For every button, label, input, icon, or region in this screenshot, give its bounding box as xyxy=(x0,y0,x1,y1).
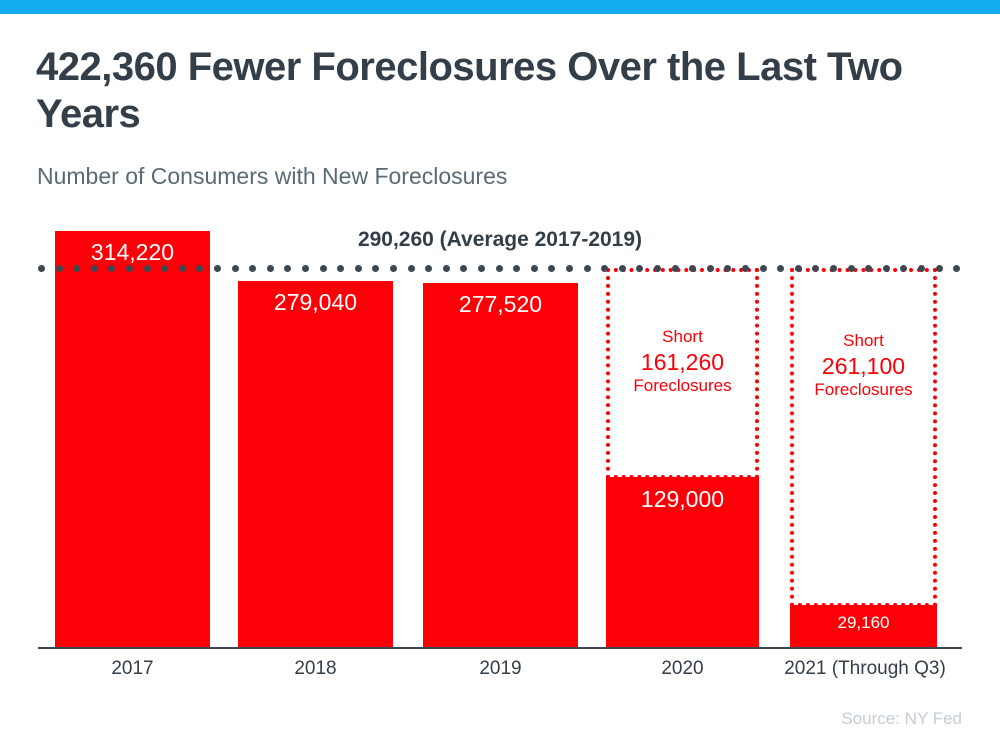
average-line-dot xyxy=(126,265,133,272)
average-line-dot xyxy=(918,265,925,272)
average-line-dot xyxy=(777,265,784,272)
average-line-dot xyxy=(496,265,503,272)
x-axis-line xyxy=(38,647,962,649)
average-line-dot xyxy=(425,265,432,272)
shortfall-box-2021 xyxy=(790,268,937,607)
x-tick-2017: 2017 xyxy=(55,658,210,680)
average-line-dot xyxy=(161,265,168,272)
average-line-dot xyxy=(654,265,661,272)
bar-value-2020: 129,000 xyxy=(606,486,759,513)
average-line-dot xyxy=(478,265,485,272)
average-line-dot xyxy=(144,265,151,272)
average-line-dot xyxy=(619,265,626,272)
average-line-dot xyxy=(372,265,379,272)
average-line-dot xyxy=(760,265,767,272)
bar-2017 xyxy=(55,231,210,647)
bar-value-2021: 29,160 xyxy=(790,613,937,633)
average-line-dot xyxy=(830,265,837,272)
average-line-dot xyxy=(513,265,520,272)
average-reference-line xyxy=(38,265,962,272)
average-line-dot xyxy=(883,265,890,272)
x-tick-2019: 2019 xyxy=(423,658,578,680)
average-line-dot xyxy=(636,265,643,272)
average-line-dot xyxy=(408,265,415,272)
average-line-dot xyxy=(689,265,696,272)
average-line-dot xyxy=(742,265,749,272)
average-line-dot xyxy=(953,265,960,272)
average-line-dot xyxy=(724,265,731,272)
source-note: Source: NY Fed xyxy=(841,709,962,729)
average-line-dot xyxy=(812,265,819,272)
average-line-dot xyxy=(566,265,573,272)
average-line-dot xyxy=(936,265,943,272)
average-line-dot xyxy=(548,265,555,272)
shortfall-line3-2020: Foreclosures xyxy=(606,376,759,397)
average-reference-label: 290,260 (Average 2017-2019) xyxy=(320,228,680,252)
average-line-dot xyxy=(390,265,397,272)
average-line-dot xyxy=(795,265,802,272)
average-line-dot xyxy=(56,265,63,272)
average-line-dot xyxy=(601,265,608,272)
average-line-dot xyxy=(337,265,344,272)
shortfall-line3-2021: Foreclosures xyxy=(787,380,940,401)
average-line-dot xyxy=(320,265,327,272)
average-line-dot xyxy=(848,265,855,272)
x-tick-2018: 2018 xyxy=(238,658,393,680)
shortfall-label-2021: Short 261,100 Foreclosures xyxy=(787,331,940,401)
average-line-dot xyxy=(443,265,450,272)
x-tick-2020: 2020 xyxy=(606,658,759,680)
average-line-dot xyxy=(584,265,591,272)
average-line-dot xyxy=(108,265,115,272)
average-line-dot xyxy=(232,265,239,272)
average-line-dot xyxy=(38,265,45,272)
shortfall-line1-2021: Short xyxy=(787,331,940,352)
average-line-dot xyxy=(91,265,98,272)
average-line-dot xyxy=(531,265,538,272)
average-line-dot xyxy=(267,265,274,272)
shortfall-value-2020: 161,260 xyxy=(606,348,759,376)
average-line-dot xyxy=(707,265,714,272)
bar-2019 xyxy=(423,283,578,647)
bar-2018 xyxy=(238,281,393,647)
bar-value-2019: 277,520 xyxy=(423,291,578,318)
average-line-dot xyxy=(73,265,80,272)
average-line-dot xyxy=(355,265,362,272)
average-line-dot xyxy=(672,265,679,272)
average-line-dot xyxy=(249,265,256,272)
shortfall-label-2020: Short 161,260 Foreclosures xyxy=(606,327,759,397)
average-line-dot xyxy=(196,265,203,272)
shortfall-line1-2020: Short xyxy=(606,327,759,348)
average-line-dot xyxy=(900,265,907,272)
average-line-dot xyxy=(179,265,186,272)
average-line-dot xyxy=(284,265,291,272)
average-line-dot xyxy=(302,265,309,272)
shortfall-value-2021: 261,100 xyxy=(787,352,940,380)
average-line-dot xyxy=(214,265,221,272)
average-line-dot xyxy=(460,265,467,272)
x-tick-2021: 2021 (Through Q3) xyxy=(770,658,960,680)
bar-chart: 314,220 279,040 277,520 129,000 29,160 S… xyxy=(0,0,1000,750)
average-line-dot xyxy=(865,265,872,272)
bar-value-2017: 314,220 xyxy=(55,239,210,266)
bar-value-2018: 279,040 xyxy=(238,289,393,316)
